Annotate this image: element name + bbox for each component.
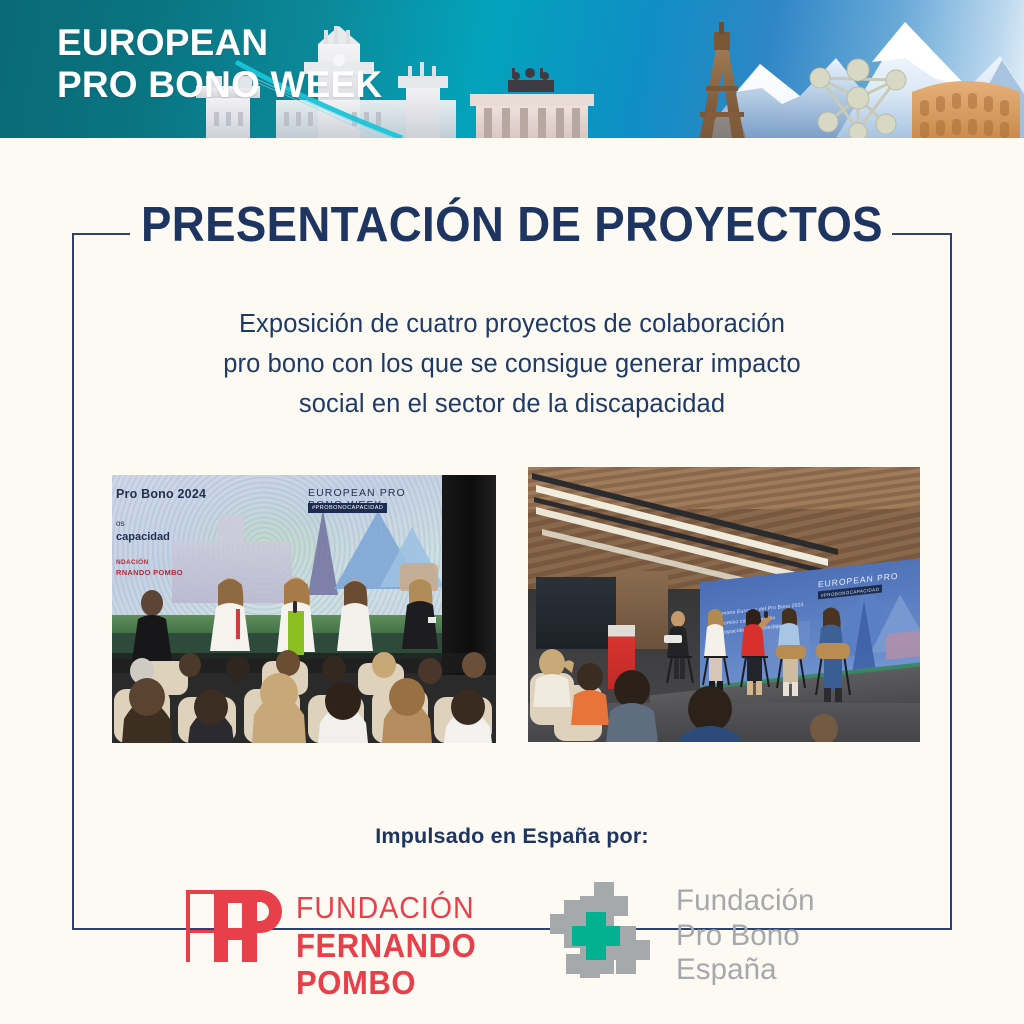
logo-fundacion-pro-bono-espana[interactable]: Fundación Pro Bono España bbox=[548, 878, 848, 978]
impulsado-label: Impulsado en España por: bbox=[0, 824, 1024, 849]
page-title: PRESENTACIÓN DE PROYECTOS bbox=[36, 197, 988, 253]
ffp-wordmark: FUNDACIÓN FERNANDO POMBO bbox=[296, 892, 531, 1001]
event-banner: EUROPEAN PRO BONO WEEK bbox=[0, 0, 1024, 138]
ffp-line-2: FERNANDO POMBO bbox=[296, 928, 517, 1002]
banner-title: EUROPEAN PRO BONO WEEK bbox=[57, 22, 382, 106]
subtitle-line-2: pro bono con los que se consigue generar… bbox=[142, 345, 882, 385]
subtitle-line-3: social en el sector de la discapacidad bbox=[142, 385, 882, 425]
ffp-monogram-icon bbox=[186, 890, 282, 962]
ffp-solid-p bbox=[242, 890, 282, 962]
panelist-2 bbox=[210, 578, 250, 651]
fpbe-line-2: Pro Bono bbox=[676, 919, 815, 954]
banner-title-line1: EUROPEAN bbox=[57, 22, 268, 63]
panelist-5 bbox=[402, 578, 438, 649]
panelist-1 bbox=[664, 611, 689, 679]
fpbe-wordmark: Fundación Pro Bono España bbox=[676, 884, 815, 988]
photo-people-layer bbox=[528, 467, 920, 742]
panelist-2 bbox=[704, 609, 726, 695]
fpbe-line-3: España bbox=[676, 953, 815, 988]
pro-bono-crosses-icon bbox=[548, 878, 666, 978]
panelist-1 bbox=[132, 590, 172, 661]
logo-fundacion-fernando-pombo[interactable]: FUNDACIÓN FERNANDO POMBO bbox=[186, 890, 531, 962]
banner-title-line2: PRO BONO WEEK bbox=[57, 64, 382, 106]
photo-people-layer bbox=[112, 475, 496, 743]
photo-panel-discussion-close: Pro Bono 2024 os capacidad NDACIÓN RNAND… bbox=[112, 475, 496, 743]
ffp-line-1: FUNDACIÓN bbox=[296, 892, 512, 925]
fpbe-line-1: Fundación bbox=[676, 884, 815, 919]
panelist-3 bbox=[277, 577, 315, 655]
subtitle-line-1: Exposición de cuatro proyectos de colabo… bbox=[142, 305, 882, 345]
sponsor-logos-row: FUNDACIÓN FERNANDO POMBO Fundación Pro B… bbox=[0, 868, 1024, 978]
subtitle-block: Exposición de cuatro proyectos de colabo… bbox=[142, 305, 882, 424]
photo-panel-discussion-wide: EUROPEAN PRO BONO WEEK #PROBONOCAPACIDAD… bbox=[528, 467, 920, 742]
panelist-4 bbox=[337, 580, 373, 651]
